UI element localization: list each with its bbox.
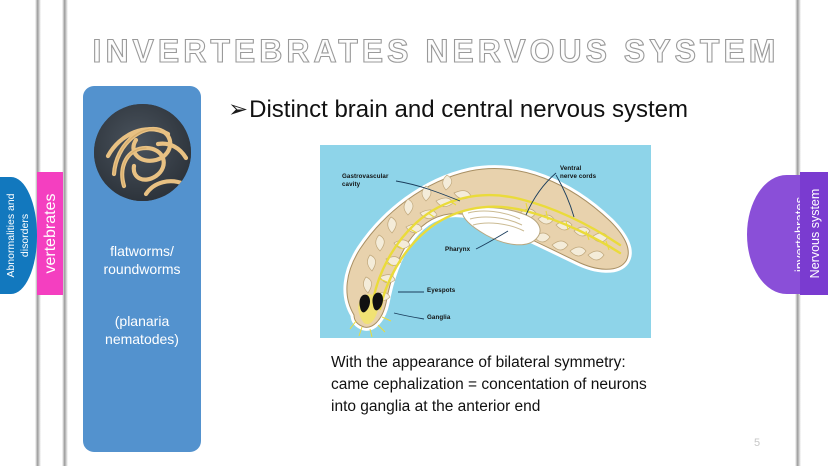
tab-abnormalities-and-disorders-label: Abnormalities and disorders	[0, 177, 37, 294]
card-caption: flatworms/ roundworms	[87, 243, 197, 279]
figure-label-ganglia: Ganglia	[427, 314, 450, 322]
figure-label-pharynx: Pharynx	[445, 246, 470, 254]
page-title: INVERTEBRATES NERVOUS SYSTEM	[86, 33, 786, 70]
slide-number: 5	[754, 437, 760, 449]
figure-label-gastrovascular-cavity: Gastrovascular cavity	[342, 173, 388, 189]
bullet-item-label: Distinct brain and central nervous syste…	[249, 96, 688, 124]
slide-canvas: Abnormalities and disorders vertebrates …	[0, 0, 828, 466]
bullet-item: ➢ Distinct brain and central nervous sys…	[228, 96, 688, 124]
tab-nervous-system-label: Nervous system	[804, 172, 826, 295]
figure-label-ventral-nerve-cords: Ventral nerve cords	[560, 165, 596, 181]
body-paragraph: With the appearance of bilateral symmetr…	[331, 352, 651, 418]
roundworms-photo	[94, 104, 191, 201]
planarian-diagram: Gastrovascular cavity Ventral nerve cord…	[320, 145, 651, 338]
tab-nervous-system[interactable]: Nervous system	[800, 172, 828, 295]
tab-vertebrates-label: vertebrates	[40, 172, 62, 295]
tab-vertebrates[interactable]: vertebrates	[37, 172, 63, 295]
arrow-bullet-icon: ➢	[228, 98, 248, 122]
organism-card: flatworms/ roundworms (planaria nematode…	[83, 86, 201, 452]
card-subcaption: (planaria nematodes)	[87, 312, 197, 349]
figure-label-eyespots: Eyespots	[427, 287, 455, 295]
tab-abnormalities-and-disorders[interactable]: Abnormalities and disorders	[0, 177, 37, 294]
